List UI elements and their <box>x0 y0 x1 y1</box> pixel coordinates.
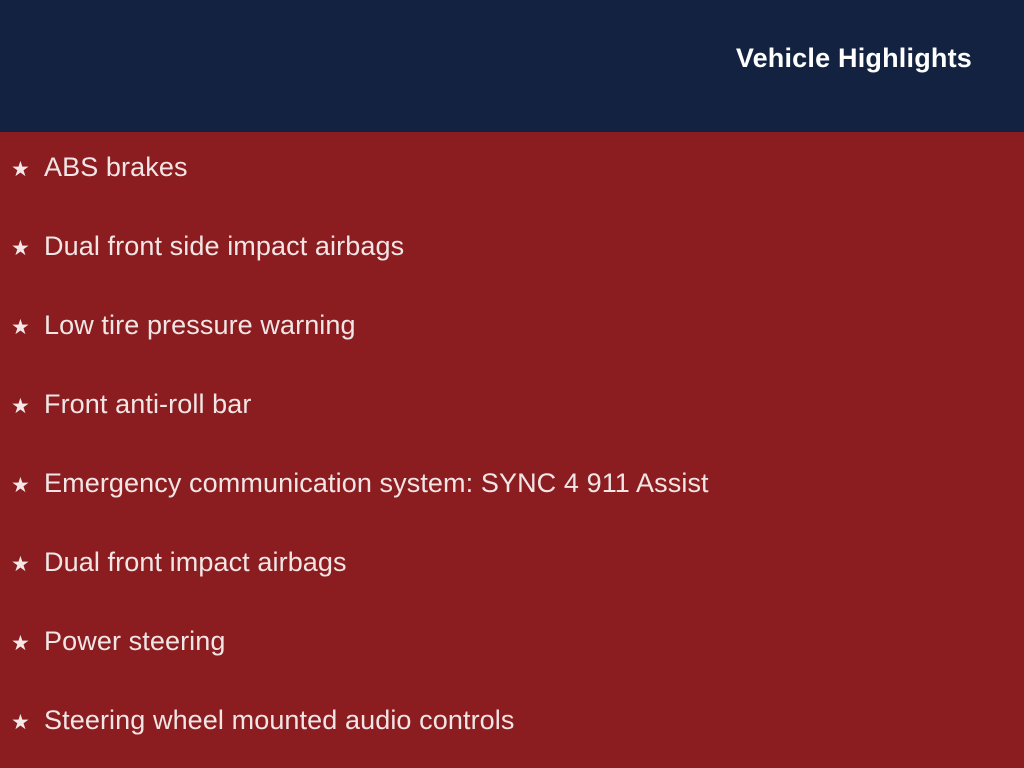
list-item-label: Dual front side impact airbags <box>44 233 404 260</box>
star-icon: ★ <box>11 159 44 180</box>
list-item: ★ Power steering <box>0 628 1024 707</box>
star-icon: ★ <box>11 317 44 338</box>
star-icon: ★ <box>11 396 44 417</box>
star-icon: ★ <box>11 712 44 733</box>
vehicle-highlights-list: ★ ABS brakes ★ Dual front side impact ai… <box>0 154 1024 768</box>
list-item-label: Front anti-roll bar <box>44 391 251 418</box>
page-title: Vehicle Highlights <box>736 45 972 72</box>
list-item-label: Emergency communication system: SYNC 4 9… <box>44 470 709 497</box>
star-icon: ★ <box>11 633 44 654</box>
list-item: ★ Low tire pressure warning <box>0 312 1024 391</box>
star-icon: ★ <box>11 554 44 575</box>
list-item: ★ Emergency communication system: SYNC 4… <box>0 470 1024 549</box>
list-item-label: Low tire pressure warning <box>44 312 356 339</box>
slide-header: Vehicle Highlights <box>0 0 1024 132</box>
slide-body: ★ ABS brakes ★ Dual front side impact ai… <box>0 132 1024 768</box>
list-item-label: ABS brakes <box>44 154 188 181</box>
slide: Vehicle Highlights ★ ABS brakes ★ Dual f… <box>0 0 1024 768</box>
list-item-label: Power steering <box>44 628 226 655</box>
list-item-label: Steering wheel mounted audio controls <box>44 707 515 734</box>
list-item: ★ ABS brakes <box>0 154 1024 233</box>
list-item-label: Dual front impact airbags <box>44 549 347 576</box>
star-icon: ★ <box>11 475 44 496</box>
list-item: ★ Dual front side impact airbags <box>0 233 1024 312</box>
star-icon: ★ <box>11 238 44 259</box>
list-item: ★ Front anti-roll bar <box>0 391 1024 470</box>
list-item: ★ Dual front impact airbags <box>0 549 1024 628</box>
list-item: ★ Steering wheel mounted audio controls <box>0 707 1024 768</box>
